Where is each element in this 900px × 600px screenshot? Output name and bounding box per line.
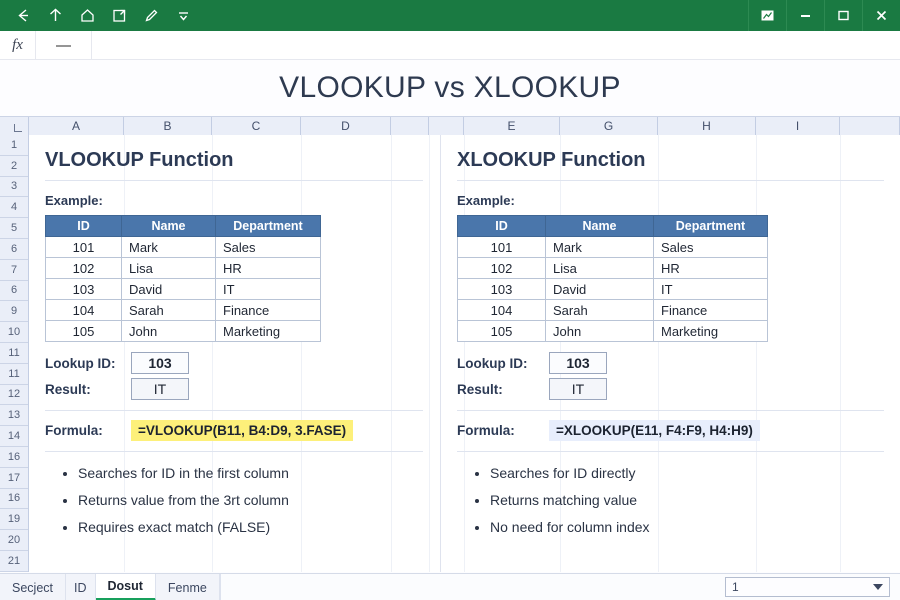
formula-input[interactable] xyxy=(92,31,900,60)
vlookup-result-row: Result: IT xyxy=(45,378,423,400)
table-cell: Finance xyxy=(216,300,321,321)
minimize-icon[interactable] xyxy=(786,0,824,31)
row-header-4[interactable]: 4 xyxy=(0,197,28,218)
table-row: 104SarahFinance xyxy=(46,300,321,321)
vlookup-bullet-list: Searches for ID in the first columnRetur… xyxy=(63,466,423,534)
row-header-20[interactable]: 20 xyxy=(0,530,28,551)
vlookup-result-value: IT xyxy=(131,378,189,400)
row-header-16[interactable]: 16 xyxy=(0,489,28,510)
table-cell: John xyxy=(546,321,654,342)
column-header-blank[interactable] xyxy=(429,117,464,135)
table-cell: 103 xyxy=(46,279,122,300)
row-header-9[interactable]: 9 xyxy=(0,301,28,322)
maximize-icon[interactable] xyxy=(824,0,862,31)
table-header-row: IDNameDepartment xyxy=(458,216,768,237)
share-export-icon[interactable] xyxy=(104,0,134,31)
row-header-12[interactable]: 12 xyxy=(0,385,28,406)
row-header-6[interactable]: 6 xyxy=(0,281,28,302)
row-header-3[interactable]: 3 xyxy=(0,177,28,198)
table-cell: Mark xyxy=(122,237,216,258)
document-title-band: VLOOKUP vs XLOOKUP xyxy=(0,60,900,115)
list-item: Searches for ID in the first column xyxy=(63,466,423,480)
column-header-g[interactable]: G xyxy=(560,117,658,135)
xlookup-lookup-row: Lookup ID: 103 xyxy=(457,352,884,374)
name-box[interactable]: — xyxy=(36,31,92,60)
list-item: Searches for ID directly xyxy=(475,466,884,480)
row-header-10[interactable]: 10 xyxy=(0,322,28,343)
column-header-b[interactable]: B xyxy=(124,117,212,135)
table-row: 103DavidIT xyxy=(458,279,768,300)
row-header-13[interactable]: 13 xyxy=(0,405,28,426)
vlookup-panel-title: VLOOKUP Function xyxy=(45,149,423,172)
vlookup-lookup-row: Lookup ID: 103 xyxy=(45,352,423,374)
vlookup-title-divider xyxy=(45,180,423,181)
select-all-corner[interactable] xyxy=(0,117,29,135)
table-cell: Mark xyxy=(546,237,654,258)
table-cell: David xyxy=(546,279,654,300)
table-cell: 102 xyxy=(458,258,546,279)
row-header-2[interactable]: 2 xyxy=(0,156,28,177)
table-row: 105JohnMarketing xyxy=(46,321,321,342)
title-bar xyxy=(0,0,900,31)
table-cell: IT xyxy=(216,279,321,300)
sheet-canvas: VLOOKUP Function Example: IDNameDepartme… xyxy=(29,135,900,572)
table-row: 101MarkSales xyxy=(46,237,321,258)
column-header-c[interactable]: C xyxy=(212,117,301,135)
table-row: 104SarahFinance xyxy=(458,300,768,321)
xlookup-bullet-list: Searches for ID directlyReturns matching… xyxy=(475,466,884,534)
fx-icon[interactable]: fx xyxy=(0,31,36,60)
sheet-tab-fenme[interactable]: Fenme xyxy=(156,574,220,600)
table-cell: Sarah xyxy=(122,300,216,321)
edit-pencil-icon[interactable] xyxy=(136,0,166,31)
column-header-a[interactable]: A xyxy=(29,117,124,135)
table-cell: Sales xyxy=(216,237,321,258)
xlookup-lookup-label: Lookup ID: xyxy=(457,356,549,371)
sheet-tab-dosut[interactable]: Dosut xyxy=(96,574,156,600)
table-row: 101MarkSales xyxy=(458,237,768,258)
xlookup-panel-title: XLOOKUP Function xyxy=(457,149,884,172)
column-header-d[interactable]: D xyxy=(301,117,391,135)
xlookup-formula-row: Formula: =XLOOKUP(E11, F4:F9, H4:H9) xyxy=(457,420,884,441)
vlookup-formula-label: Formula: xyxy=(45,423,131,438)
formula-bar: fx — xyxy=(0,31,900,60)
table-row: 105JohnMarketing xyxy=(458,321,768,342)
list-item: Returns value from the 3rt column xyxy=(63,493,423,507)
row-header-11[interactable]: 11 xyxy=(0,364,28,385)
column-header-cell: Department xyxy=(216,216,321,237)
restore-window-icon[interactable] xyxy=(748,0,786,31)
spreadsheet-app: fx — VLOOKUP vs XLOOKUP ABCDEGHI 1234567… xyxy=(0,0,900,600)
table-cell: HR xyxy=(654,258,768,279)
table-cell: 104 xyxy=(46,300,122,321)
table-cell: IT xyxy=(654,279,768,300)
row-header-7[interactable]: 7 xyxy=(0,260,28,281)
row-header-1[interactable]: 1 xyxy=(0,135,28,156)
sheet-tab-secject[interactable]: Secject xyxy=(0,574,66,600)
table-cell: 105 xyxy=(458,321,546,342)
xlookup-formula-label: Formula: xyxy=(457,423,549,438)
list-item: Returns matching value xyxy=(475,493,884,507)
xlookup-lookup-value[interactable]: 103 xyxy=(549,352,607,374)
row-header-column: 123456769101111121314161716192021 xyxy=(0,135,29,572)
xlookup-result-label: Result: xyxy=(457,382,549,397)
xlookup-example-label: Example: xyxy=(457,193,884,208)
row-header-6[interactable]: 6 xyxy=(0,239,28,260)
xlookup-panel: XLOOKUP Function Example: IDNameDepartme… xyxy=(440,135,900,572)
row-header-14[interactable]: 14 xyxy=(0,426,28,447)
xlookup-title-divider xyxy=(457,180,884,181)
up-arrow-icon[interactable] xyxy=(40,0,70,31)
xlookup-formula-divider-bottom xyxy=(457,451,884,452)
table-cell: 104 xyxy=(458,300,546,321)
column-header-cell: Name xyxy=(122,216,216,237)
vlookup-lookup-value[interactable]: 103 xyxy=(131,352,189,374)
row-header-11[interactable]: 11 xyxy=(0,343,28,364)
vlookup-formula-row: Formula: =VLOOKUP(B11, B4:D9, 3.FASE) xyxy=(45,420,423,441)
table-cell: Lisa xyxy=(122,258,216,279)
column-header-cell: ID xyxy=(458,216,546,237)
table-cell: 101 xyxy=(458,237,546,258)
xlookup-formula-text[interactable]: =XLOOKUP(E11, F4:F9, H4:H9) xyxy=(549,420,760,441)
list-item: Requires exact match (FALSE) xyxy=(63,520,423,534)
table-cell: Finance xyxy=(654,300,768,321)
column-header-e[interactable]: E xyxy=(464,117,560,135)
vlookup-example-table: IDNameDepartment 101MarkSales102LisaHR10… xyxy=(45,215,321,342)
table-cell: Marketing xyxy=(654,321,768,342)
home-icon[interactable] xyxy=(72,0,102,31)
page-title: VLOOKUP vs XLOOKUP xyxy=(279,71,621,105)
table-row: 102LisaHR xyxy=(46,258,321,279)
xlookup-formula-divider-top xyxy=(457,410,884,411)
vlookup-formula-text[interactable]: =VLOOKUP(B11, B4:D9, 3.FASE) xyxy=(131,420,353,441)
page-select-value: 1 xyxy=(732,580,739,594)
table-cell: Marketing xyxy=(216,321,321,342)
table-cell: 102 xyxy=(46,258,122,279)
table-header-row: IDNameDepartment xyxy=(46,216,321,237)
column-header-cell: ID xyxy=(46,216,122,237)
xlookup-result-value: IT xyxy=(549,378,607,400)
page-select-dropdown[interactable]: 1 xyxy=(725,577,890,597)
row-header-21[interactable]: 21 xyxy=(0,551,28,572)
corner-triangle-icon xyxy=(14,124,22,132)
table-cell: Sales xyxy=(654,237,768,258)
list-item: No need for column index xyxy=(475,520,884,534)
vlookup-formula-divider-bottom xyxy=(45,451,423,452)
vlookup-result-label: Result: xyxy=(45,382,131,397)
row-header-16[interactable]: 16 xyxy=(0,447,28,468)
xlookup-example-table: IDNameDepartment 101MarkSales102LisaHR10… xyxy=(457,215,768,342)
row-header-19[interactable]: 19 xyxy=(0,509,28,530)
sheet-bar-spacer xyxy=(220,574,725,600)
back-arrow-icon[interactable] xyxy=(8,0,38,31)
vlookup-panel: VLOOKUP Function Example: IDNameDepartme… xyxy=(29,135,439,572)
chevron-down-icon xyxy=(873,584,883,590)
table-row: 102LisaHR xyxy=(458,258,768,279)
column-header-blank[interactable] xyxy=(840,117,900,135)
table-cell: 101 xyxy=(46,237,122,258)
vlookup-lookup-label: Lookup ID: xyxy=(45,356,131,371)
title-bar-toolbar xyxy=(0,0,198,31)
xlookup-result-row: Result: IT xyxy=(457,378,884,400)
close-icon[interactable] xyxy=(862,0,900,31)
table-cell: Lisa xyxy=(546,258,654,279)
table-cell: HR xyxy=(216,258,321,279)
column-header-row: ABCDEGHI xyxy=(0,116,900,135)
table-cell: 103 xyxy=(458,279,546,300)
table-cell: Sarah xyxy=(546,300,654,321)
table-cell: 105 xyxy=(46,321,122,342)
row-header-5[interactable]: 5 xyxy=(0,218,28,239)
column-header-h[interactable]: H xyxy=(658,117,756,135)
sheet-tab-id[interactable]: ID xyxy=(66,574,96,600)
window-controls xyxy=(748,0,900,31)
column-header-blank[interactable] xyxy=(391,117,429,135)
sheet-tab-bar: SecjectIDDosutFenme 1 xyxy=(0,573,900,600)
column-header-i[interactable]: I xyxy=(756,117,840,135)
table-cell: David xyxy=(122,279,216,300)
table-row: 103DavidIT xyxy=(46,279,321,300)
column-header-cell: Department xyxy=(654,216,768,237)
column-header-cell: Name xyxy=(546,216,654,237)
vlookup-example-label: Example: xyxy=(45,193,423,208)
overflow-chevron-icon[interactable] xyxy=(168,0,198,31)
table-cell: John xyxy=(122,321,216,342)
row-header-17[interactable]: 17 xyxy=(0,468,28,489)
vlookup-formula-divider-top xyxy=(45,410,423,411)
